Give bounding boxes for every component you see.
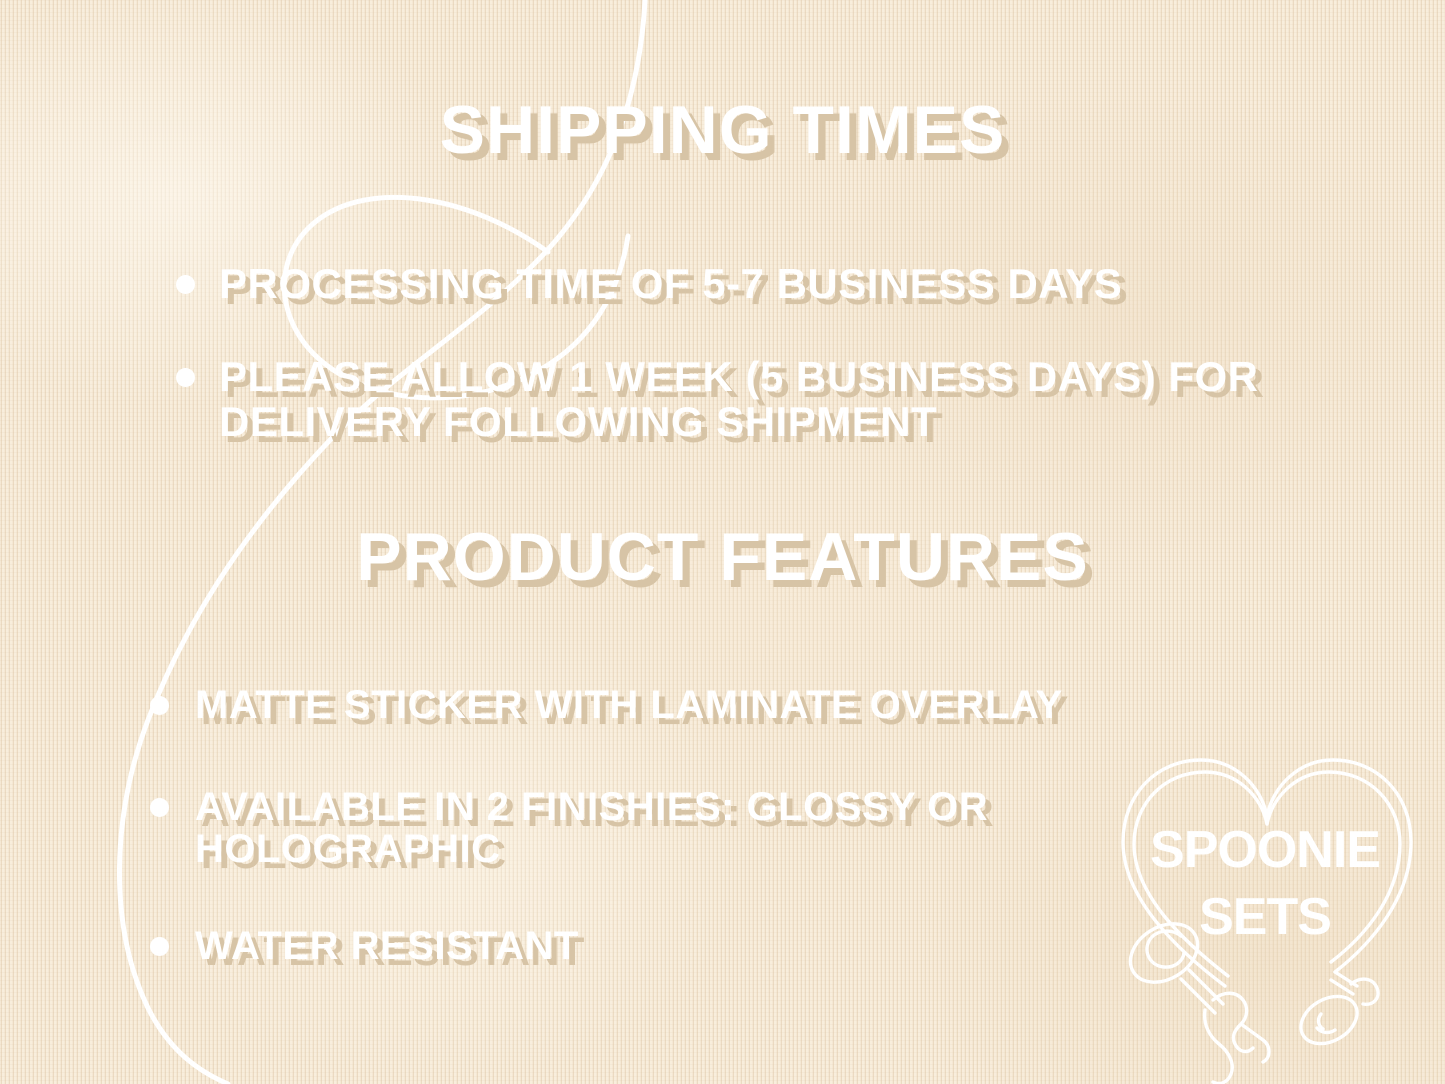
bullet-dot-icon <box>150 798 169 817</box>
bullet-dot-icon <box>150 937 169 956</box>
bullet-text-delivery-window: PLEASE ALLOW 1 WEEK (5 BUSINESS DAYS) FO… <box>219 355 1406 444</box>
section-heading-product: PRODUCT FEATURES <box>0 523 1445 591</box>
logo-wordmark-line-1: SPOONIE <box>1085 824 1445 876</box>
list-item: AVAILABLE IN 2 FINISHIES: GLOSSY OR HOLO… <box>150 786 1170 871</box>
brand-logo: SPOONIE SETS <box>1085 748 1445 1084</box>
list-item: PLEASE ALLOW 1 WEEK (5 BUSINESS DAYS) FO… <box>176 355 1406 444</box>
list-item: MATTE STICKER WITH LAMINATE OVERLAY <box>150 684 1310 726</box>
list-item: PROCESSING TIME OF 5-7 BUSINESS DAYS <box>176 262 1356 307</box>
bullet-dot-icon <box>176 275 195 294</box>
list-item: WATER RESISTANT <box>150 925 850 967</box>
bullet-text-water-resistant: WATER RESISTANT <box>195 925 579 967</box>
bullet-text-matte-sticker: MATTE STICKER WITH LAMINATE OVERLAY <box>195 684 1063 726</box>
bullet-dot-icon <box>150 696 169 715</box>
bullet-text-processing-time: PROCESSING TIME OF 5-7 BUSINESS DAYS <box>219 262 1122 307</box>
bullet-text-finishes: AVAILABLE IN 2 FINISHIES: GLOSSY OR HOLO… <box>195 786 1170 871</box>
logo-wordmark-line-2: SETS <box>1085 891 1445 943</box>
section-heading-shipping: SHIPPING TIMES <box>0 96 1445 164</box>
bullet-dot-icon <box>176 368 195 387</box>
